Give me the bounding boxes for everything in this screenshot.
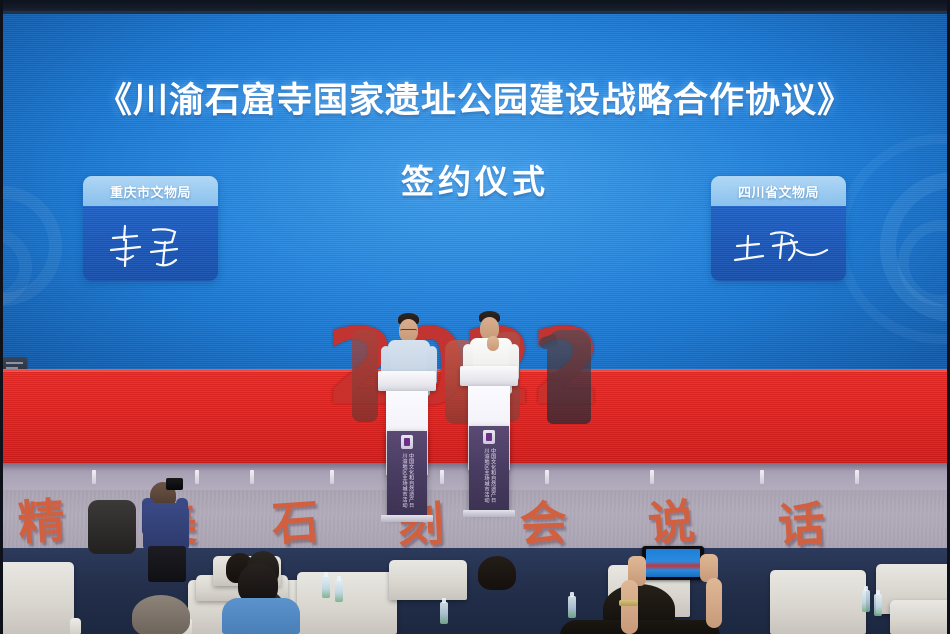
water-bottle <box>862 590 870 612</box>
audience-head <box>478 556 516 590</box>
phone-screen <box>646 549 700 577</box>
podium-left-banner-main: 中国文化和自然遗产日 <box>408 453 414 515</box>
audience-chair <box>0 562 74 634</box>
podium-left-base <box>381 515 433 522</box>
podium-left-banner: 中国文化和自然遗产日 川渝地区主场城市活动 <box>387 431 427 517</box>
camera-icon <box>166 478 183 490</box>
audience-chair-back <box>389 560 467 600</box>
signature-panel-left: 重庆市文物局 <box>83 176 218 281</box>
podium-left-banner-sub: 川渝地区主场城市活动 <box>401 453 407 515</box>
audience-head <box>238 563 278 603</box>
floor-marker <box>330 470 334 484</box>
floor-marker <box>440 470 444 484</box>
podium-right-banner-sub: 川渝地区主场城市活动 <box>483 448 489 510</box>
floor-marker <box>650 470 654 484</box>
signature-panel-left-body <box>83 206 218 281</box>
signature-panel-right-header: 四川省文物局 <box>711 176 846 206</box>
floor-marker <box>250 470 254 484</box>
floor-marker <box>92 470 96 484</box>
audience-chair <box>770 570 866 634</box>
backpack-icon <box>88 500 136 554</box>
water-bottle <box>335 580 343 602</box>
podium-right-banner: 中国文化和自然遗产日 川渝地区主场城市活动 <box>469 426 509 512</box>
forearm-left <box>621 580 638 634</box>
floor-marker <box>195 470 199 484</box>
relic-bronze-statue-icon <box>547 330 591 424</box>
signature-panel-left-label: 重庆市文物局 <box>110 182 191 201</box>
audience-chair <box>297 572 397 634</box>
speaker-right-clapping-hands <box>487 336 499 351</box>
handwritten-signature-icon <box>711 206 846 281</box>
screen-main-title: 《川渝石窟寺国家遗址公园建设战略合作协议》 <box>0 72 950 123</box>
photo-frame-left <box>0 0 3 634</box>
audience-head <box>132 595 190 634</box>
speaker-left-glasses-icon <box>400 329 417 333</box>
water-bottle <box>874 594 882 616</box>
photographer-torso <box>143 503 189 549</box>
podium-right-banner-main: 中国文化和自然遗产日 <box>490 448 496 510</box>
signature-panel-right-body <box>711 206 846 281</box>
emblem-icon <box>401 435 413 449</box>
signature-panel-right: 四川省文物局 <box>711 176 846 281</box>
audience-chair <box>890 600 950 634</box>
forearm-right <box>706 578 722 628</box>
podium-right-top <box>460 366 518 386</box>
handwritten-signature-icon <box>83 206 218 281</box>
water-bottle <box>440 602 448 624</box>
relic-silhouette-icon <box>352 330 378 422</box>
water-bottle <box>322 576 330 598</box>
audience-shoulders <box>222 598 300 634</box>
audience-shoulders <box>560 620 720 634</box>
signature-panel-left-header: 重庆市文物局 <box>83 176 218 206</box>
photographer-legs <box>148 546 186 582</box>
floor-marker <box>760 470 764 484</box>
emblem-icon <box>483 430 495 444</box>
floor-marker <box>855 470 859 484</box>
event-photo-scene: 《川渝石窟寺国家遗址公园建设战略合作协议》 签约仪式 重庆市文物局 <box>0 0 950 634</box>
wristwatch-icon <box>619 600 638 606</box>
podium-right-base <box>463 510 515 517</box>
water-bottle <box>568 596 576 618</box>
podium-left-top <box>378 371 436 391</box>
floor-marker <box>545 470 549 484</box>
signature-panel-right-label: 四川省文物局 <box>738 182 819 201</box>
